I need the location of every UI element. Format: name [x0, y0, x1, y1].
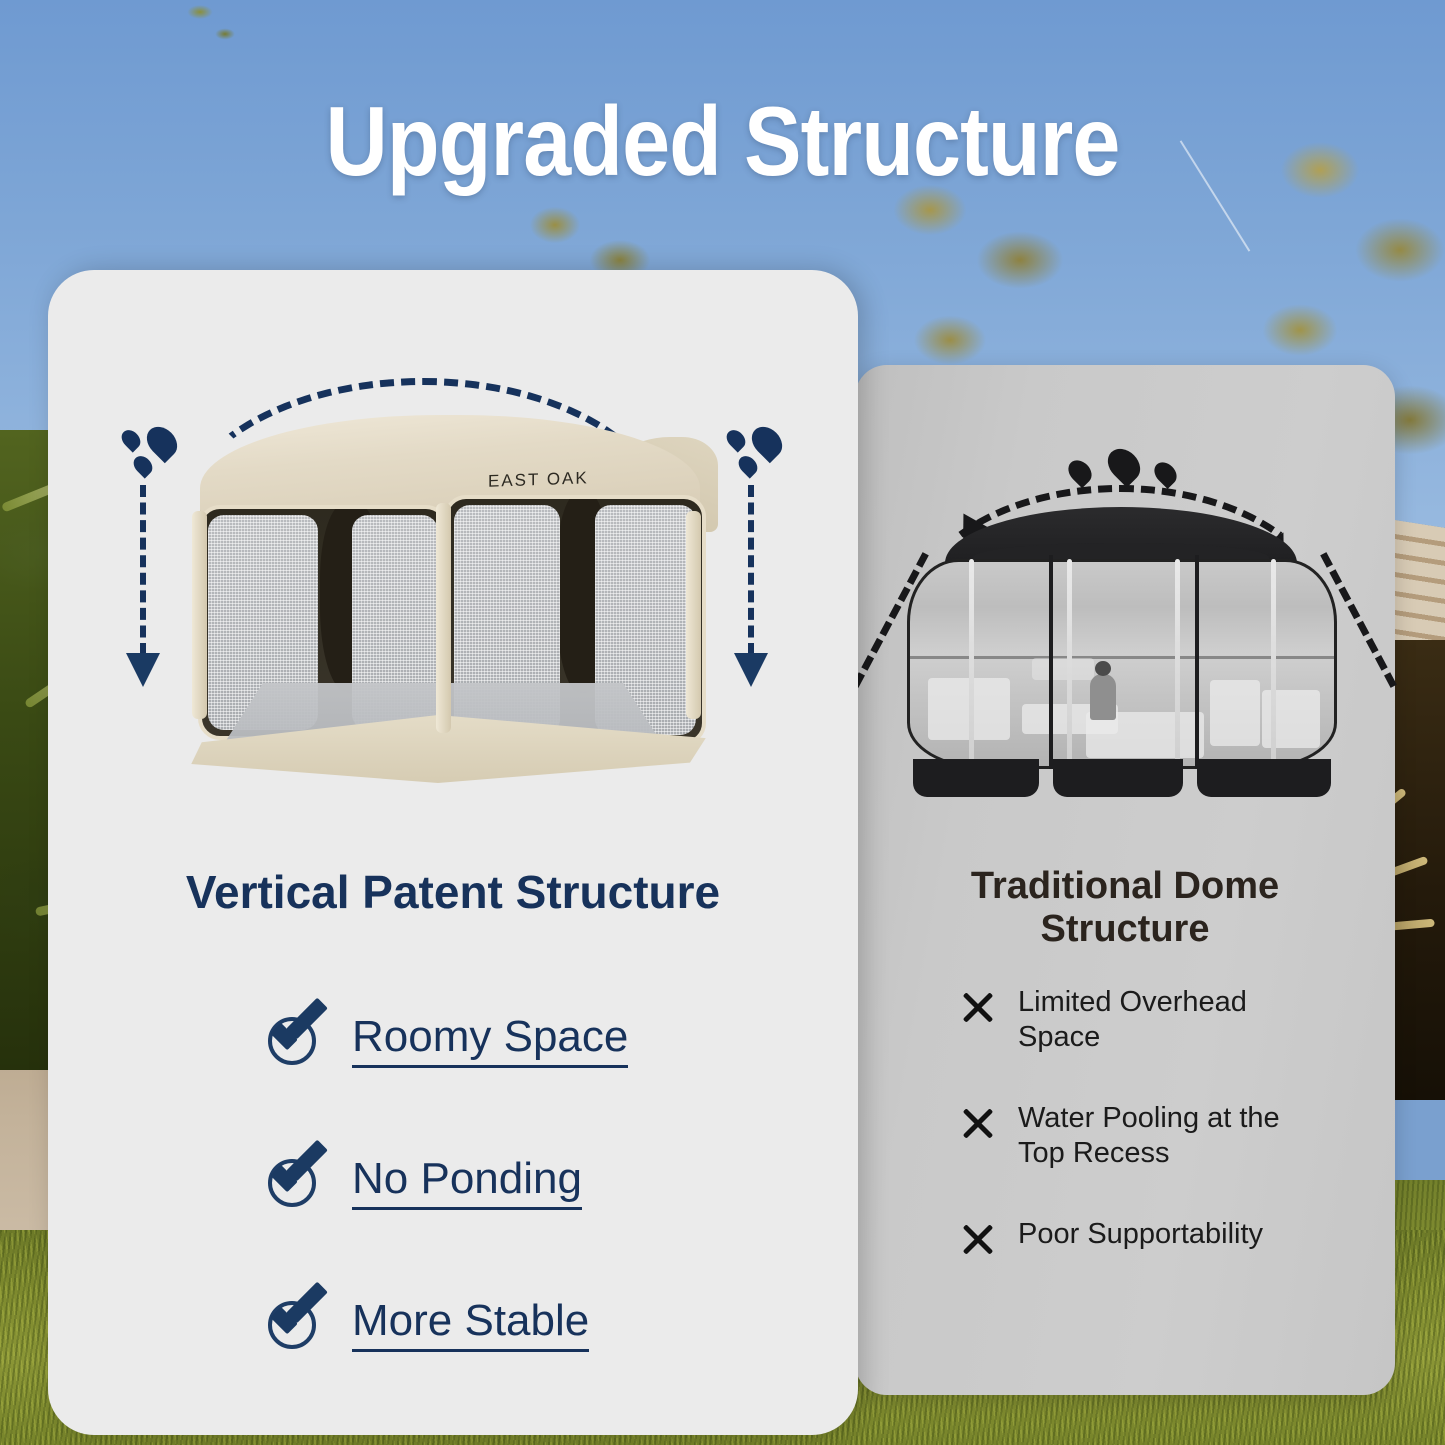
- x-mark-icon: [960, 1105, 996, 1141]
- check-circle-icon: [266, 1155, 322, 1211]
- benefits-list: Roomy Space No Ponding More Stable: [48, 970, 858, 1396]
- traditional-dome-card: Traditional Dome Structure Limited Overh…: [855, 365, 1395, 1395]
- dome-tent-graphic: [907, 507, 1337, 797]
- person-silhouette: [1090, 674, 1116, 720]
- list-item: Roomy Space: [48, 970, 858, 1112]
- square-gazebo-graphic: EAST OAK: [178, 415, 718, 815]
- east-oak-gazebo-illustration: EAST OAK: [48, 310, 858, 830]
- list-item: Water Pooling at the Top Recess: [855, 1101, 1395, 1217]
- check-circle-icon: [266, 1013, 322, 1069]
- x-mark-icon: [960, 1221, 996, 1257]
- benefit-label: More Stable: [352, 1298, 589, 1351]
- gazebo-right-pole: [686, 511, 701, 719]
- gazebo-left-pole: [192, 511, 207, 719]
- tree-branch-top-left: [170, 0, 260, 62]
- vertical-patent-heading: Vertical Patent Structure: [48, 865, 858, 919]
- vertical-patent-structure-card: EAST OAK Vertical Patent Structure: [48, 270, 858, 1435]
- list-item: No Ponding: [48, 1112, 858, 1254]
- benefit-label: No Ponding: [352, 1156, 582, 1209]
- drawbacks-list: Limited Overhead Space Water Pooling at …: [855, 985, 1395, 1333]
- heading-line-2: Structure: [1041, 908, 1210, 950]
- traditional-dome-illustration: [855, 435, 1395, 855]
- check-circle-icon: [266, 1297, 322, 1353]
- drawback-label: Water Pooling at the Top Recess: [1018, 1101, 1318, 1172]
- list-item: Poor Supportability: [855, 1217, 1395, 1333]
- list-item: More Stable: [48, 1254, 858, 1396]
- drawback-label: Poor Supportability: [1018, 1217, 1263, 1252]
- x-mark-icon: [960, 989, 996, 1025]
- traditional-dome-heading: Traditional Dome Structure: [875, 865, 1375, 950]
- brand-label: EAST OAK: [488, 468, 589, 492]
- heading-line-1: Traditional Dome: [971, 865, 1279, 907]
- drawback-label: Limited Overhead Space: [1018, 985, 1318, 1056]
- benefit-label: Roomy Space: [352, 1014, 628, 1067]
- list-item: Limited Overhead Space: [855, 985, 1395, 1101]
- gazebo-corner-pole: [436, 503, 451, 733]
- page-title: Upgraded Structure: [87, 85, 1359, 198]
